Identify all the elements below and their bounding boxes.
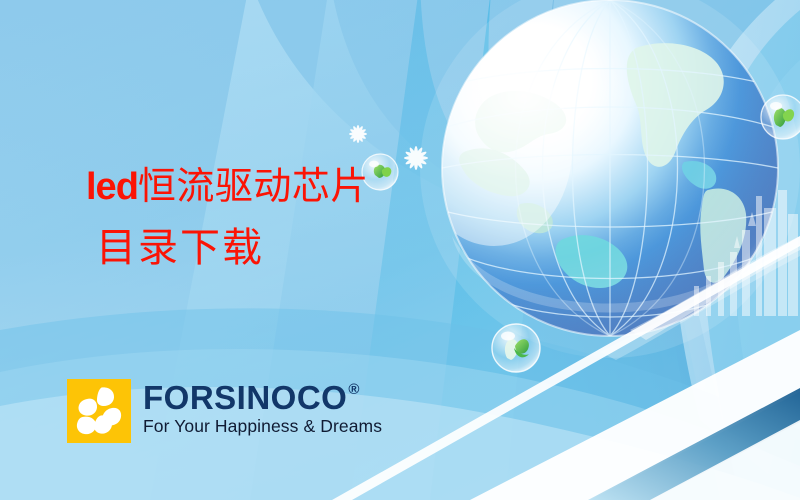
bubble-small-top xyxy=(362,154,398,190)
forsinoco-logo[interactable]: FORSINOCO® For Your Happiness & Dreams xyxy=(67,379,382,443)
logo-tagline: For Your Happiness & Dreams xyxy=(143,418,382,436)
petal-bottom-left xyxy=(77,417,96,435)
petal-top xyxy=(97,387,114,406)
bubble-right-edge xyxy=(761,95,800,139)
registered-trademark-symbol: ® xyxy=(348,382,360,397)
logo-text-lockup: FORSINOCO® For Your Happiness & Dreams xyxy=(143,379,382,436)
petal-left xyxy=(78,399,97,416)
logo-wordmark-text: FORSINOCO xyxy=(143,381,347,414)
petal-bottom xyxy=(94,415,112,433)
logo-wordmark: FORSINOCO® xyxy=(143,381,382,414)
bubble-leaf-center xyxy=(492,324,540,372)
forsinoco-pinwheel-icon xyxy=(67,379,131,443)
banner-root: led恒流驱动芯片 目录下载 FORSINOCO® For Your Happi… xyxy=(0,0,800,500)
